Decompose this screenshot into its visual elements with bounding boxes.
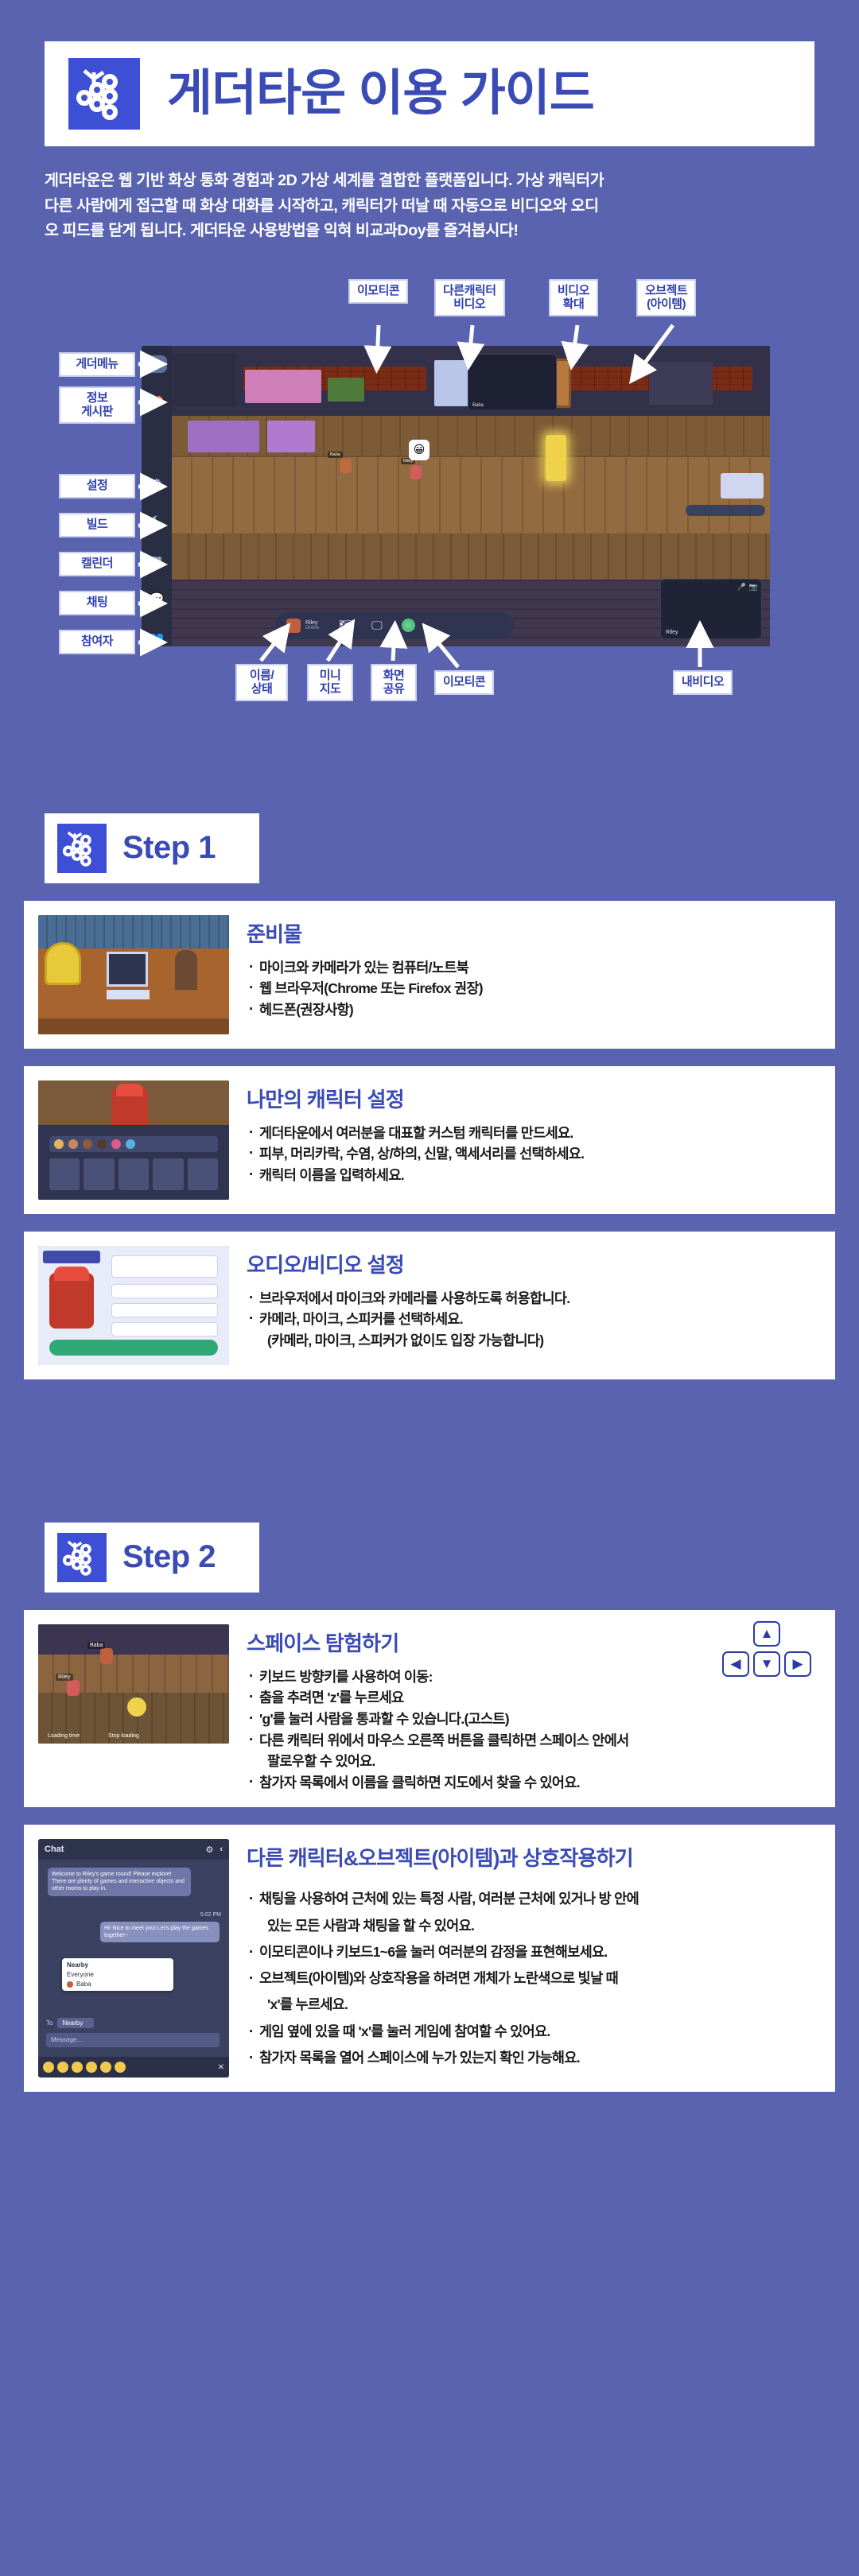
card-thumbnail: Baba Riley Loading time Stop loading (38, 1624, 229, 1744)
emoticon-icon[interactable] (86, 2062, 97, 2073)
dropdown-item[interactable]: Baba (76, 1980, 91, 1988)
to-value[interactable]: Nearby (57, 2018, 94, 2028)
chat-message: Hi! Nice to meet you! Let's play the gam… (100, 1922, 220, 1942)
callout-label-line2: 상태 (244, 683, 279, 696)
callout-label-line1: 참여자 (68, 635, 126, 649)
callout-settings: 설정 (59, 474, 135, 499)
chat-scope-dropdown[interactable]: Nearby Everyone Baba (62, 1958, 173, 1991)
callout-chat: 채팅 (59, 591, 135, 615)
bullet-item: 참가자 목록을 열어 스페이스에 누가 있는지 확인 가능해요. (247, 2045, 819, 2071)
bullet-item: 게임 옆에 있을 때 'x'를 눌러 게임에 참여할 수 있어요. (247, 2019, 819, 2045)
callout-info-board: 정보 게시판 (59, 386, 135, 425)
dropdown-item[interactable]: Everyone (67, 1971, 169, 1978)
callout-label-line2: 확대 (558, 298, 589, 312)
card-content: 나만의 캐릭터 설정 게더타운에서 여러분을 대표할 커스텀 캐릭터를 만드세요… (247, 1080, 819, 1186)
bullet-item: 키보드 방향키를 사용하여 이동: (247, 1666, 819, 1688)
card-bullets: 키보드 방향키를 사용하여 이동: 춤을 추려면 'z'를 누르세요 'g'를 … (247, 1666, 819, 1794)
callout-label-line1: 비디오 (558, 285, 589, 298)
card-interaction: Chat ⚙ ‹ Welcome to Riley's game round! … (24, 1825, 835, 2092)
card-content: 다른 캐릭터&오브젝트(아이템)과 상호작용하기 채팅을 사용하여 근처에 있는… (247, 1839, 819, 2071)
callout-label-line1: 정보 (68, 392, 126, 405)
annotated-screenshot: ⌂ 📌 ⚙ 🔨 ▦ 💬 👥 Baba (45, 273, 814, 718)
callout-label-line1: 미니 (316, 669, 344, 683)
callout-participants: 참여자 (59, 630, 135, 654)
chat-header: Chat ⚙ ‹ (38, 1839, 229, 1860)
callout-label-line1: 오브젝트 (645, 285, 687, 298)
card-bullets: 마이크와 카메라가 있는 컴퓨터/노트북 웹 브라우저(Chrome 또는 Fi… (247, 957, 819, 1021)
bullet-item: 브라우저에서 마이크와 카메라를 사용하도록 허용합니다. (247, 1288, 819, 1309)
intro-line-3: 오 피드를 닫게 됩니다. 게더타운 사용방법을 익혀 비교과Doy를 즐겨봅시… (45, 219, 814, 244)
card-bullets: 브라우저에서 마이크와 카메라를 사용하도록 허용합니다. 카메라, 마이크, … (247, 1288, 819, 1352)
chat-panel-thumbnail: Chat ⚙ ‹ Welcome to Riley's game round! … (38, 1839, 229, 2077)
callout-arrows-bottom (45, 273, 840, 718)
emoticon-icon[interactable] (72, 2062, 83, 2073)
emoticon-bar[interactable]: ✕ (38, 2057, 229, 2077)
dropdown-title: Nearby (67, 1961, 169, 1969)
callout-calendar: 캘린더 (59, 552, 135, 576)
card-audio-video-setup: 오디오/비디오 설정 브라우저에서 마이크와 카메라를 사용하도록 허용합니다.… (24, 1232, 835, 1379)
callout-emoticon-bottom: 이모티콘 (434, 670, 494, 695)
intro-line-1: 게더타운은 웹 기반 화상 통화 경험과 2D 가상 세계를 결합한 플랫폼입니… (45, 169, 814, 194)
step-2-header: Step 2 (45, 1523, 259, 1593)
callout-label-line1: 빌드 (68, 518, 126, 532)
bullet-item: 참가자 목록에서 이름을 클릭하면 지도에서 찾을 수 있어요. (247, 1772, 819, 1794)
page-title: 게더타운 이용 가이드 (167, 69, 594, 118)
bullet-item: 춤을 추려면 'z'를 누르세요 (247, 1687, 819, 1709)
callout-label-line2: 게시판 (68, 405, 126, 419)
callout-label-line1: 다른캐릭터 (443, 285, 496, 298)
gather-logo-icon (57, 1533, 107, 1582)
gear-icon[interactable]: ⚙ (205, 1845, 213, 1855)
card-preparation: 준비물 마이크와 카메라가 있는 컴퓨터/노트북 웹 브라우저(Chrome 또… (24, 901, 835, 1049)
callout-label-line1: 게더메뉴 (68, 358, 126, 371)
chat-title: Chat (45, 1845, 64, 1854)
card-bullets: 게더타운에서 여러분을 대표할 커스텀 캐릭터를 만드세요. 피부, 머리카락,… (247, 1123, 819, 1186)
gather-logo-icon (68, 58, 140, 130)
callout-label-line1: 채팅 (68, 596, 126, 610)
card-thumbnail (38, 1246, 229, 1365)
emoticon-icon[interactable] (43, 2062, 54, 2073)
callout-mini-map: 미니 지도 (307, 664, 353, 702)
step-1-badge: Step 1 (122, 830, 216, 866)
callout-label-line2: (아이템) (645, 298, 687, 312)
bullet-item: 'x'를 누르세요. (247, 1992, 819, 2018)
emoticon-icon[interactable] (100, 2062, 111, 2073)
step-2-badge: Step 2 (122, 1539, 216, 1575)
page-header: 게더타운 이용 가이드 게더타운은 웹 기반 화상 통화 경험과 2D 가상 세… (0, 0, 859, 244)
bullet-item: 캐릭터 이름을 입력하세요. (247, 1165, 819, 1186)
bullet-item: 다른 캐릭터 위에서 마우스 오른쪽 버튼을 클릭하면 스페이스 안에서 (247, 1730, 819, 1752)
bullet-item: 피부, 머리카락, 수염, 상/하의, 신말, 액세서리를 선택하세요. (247, 1143, 819, 1165)
bullet-item: 'g'를 눌러 사람을 통과할 수 있습니다.(고스트) (247, 1709, 819, 1730)
card-title: 나만의 캐릭터 설정 (247, 1084, 819, 1113)
card-character-setup: 나만의 캐릭터 설정 게더타운에서 여러분을 대표할 커스텀 캐릭터를 만드세요… (24, 1066, 835, 1214)
callout-object-item: 오브젝트 (아이템) (636, 279, 696, 317)
callout-label-line2: 비디오 (443, 298, 496, 312)
key-up-icon[interactable]: ▲ (753, 1621, 780, 1647)
callout-name-status: 이름/ 상태 (235, 664, 288, 702)
chat-timestamp: 5:02 PM (200, 1912, 221, 1918)
callout-video-enlarge: 비디오 확대 (549, 279, 598, 317)
title-card: 게더타운 이용 가이드 (45, 41, 814, 146)
card-thumbnail (38, 1080, 229, 1200)
card-thumbnail (38, 915, 229, 1034)
callout-label-line1: 이모티콘 (443, 676, 485, 689)
bullet-item: 마이크와 카메라가 있는 컴퓨터/노트북 (247, 957, 819, 979)
chevron-left-icon[interactable]: ‹ (220, 1845, 223, 1855)
bullet-item: 카메라, 마이크, 스피커를 선택하세요. (247, 1309, 819, 1330)
callout-emoticon: 이모티콘 (348, 279, 408, 304)
bullet-item: 오브젝트(아이템)와 상호작용을 하려면 개체가 노란색으로 빛날 때 (247, 1965, 819, 1992)
emoticon-icon[interactable] (57, 2062, 68, 2073)
chat-message: Welcome to Riley's game round! Please ex… (48, 1868, 191, 1895)
step-1-header: Step 1 (45, 813, 259, 883)
bullet-item: 채팅을 사용하여 근처에 있는 특정 사람, 여러분 근처에 있거나 방 안에 (247, 1886, 819, 1912)
bullet-item: 팔로우할 수 있어요. (247, 1751, 819, 1772)
bullet-item: 이모티콘이나 키보드1~6을 눌러 여러분의 감정을 표현해보세요. (247, 1939, 819, 1965)
callout-screen-share: 화면 공유 (371, 664, 417, 702)
callout-my-video: 내비디오 (673, 670, 733, 695)
card-content: 준비물 마이크와 카메라가 있는 컴퓨터/노트북 웹 브라우저(Chrome 또… (247, 915, 819, 1021)
callout-label-line2: 공유 (379, 683, 408, 696)
card-title: 다른 캐릭터&오브젝트(아이템)과 상호작용하기 (247, 1842, 819, 1872)
card-content: 스페이스 탐험하기 ▲ ◀ ▼ ▶ 키보드 방향키를 사용하여 이동: 춤을 추… (247, 1624, 819, 1794)
emoticon-icon[interactable] (115, 2062, 126, 2073)
to-label: To (46, 2019, 52, 2027)
card-title: 준비물 (247, 918, 819, 948)
callout-gather-menu: 게더메뉴 (59, 352, 135, 377)
callout-label-line1: 캘린더 (68, 557, 126, 571)
bullet-item: 게더타운에서 여러분을 대표할 커스텀 캐릭터를 만드세요. (247, 1123, 819, 1144)
chat-input[interactable]: Message... (46, 2033, 220, 2047)
avatar (67, 1981, 73, 1988)
bullet-item: 있는 모든 사람과 채팅을 할 수 있어요. (247, 1913, 819, 1939)
card-content: 오디오/비디오 설정 브라우저에서 마이크와 카메라를 사용하도록 허용합니다.… (247, 1246, 819, 1352)
intro-paragraph: 게더타운은 웹 기반 화상 통화 경험과 2D 가상 세계를 결합한 플랫폼입니… (45, 169, 814, 244)
callout-label-line1: 설정 (68, 479, 126, 493)
intro-line-2: 다른 사람에게 접근할 때 화상 대화를 시작하고, 캐릭터가 떠날 때 자동으… (45, 194, 814, 219)
callout-label-line1: 이름/ (244, 669, 279, 683)
card-title: 오디오/비디오 설정 (247, 1249, 819, 1278)
callout-build: 빌드 (59, 513, 135, 537)
callout-label-line2: 지도 (316, 683, 344, 696)
close-icon[interactable]: ✕ (218, 2063, 224, 2072)
card-bullets: 채팅을 사용하여 근처에 있는 특정 사람, 여러분 근처에 있거나 방 안에 … (247, 1886, 819, 2071)
bullet-item: 헤드폰(권장사항) (247, 999, 819, 1021)
gather-logo-icon (57, 824, 107, 873)
callout-other-character-video: 다른캐릭터 비디오 (434, 279, 505, 317)
bullet-item: (카메라, 마이크, 스피커가 없이도 입장 가능합니다) (247, 1330, 819, 1352)
callout-label-line1: 내비디오 (682, 676, 724, 689)
card-explore-space: Baba Riley Loading time Stop loading 스페이… (24, 1610, 835, 1808)
callout-label-line1: 화면 (379, 669, 408, 683)
bullet-item: 웹 브라우저(Chrome 또는 Firefox 권장) (247, 978, 819, 999)
callout-label: 이모티콘 (357, 284, 399, 297)
